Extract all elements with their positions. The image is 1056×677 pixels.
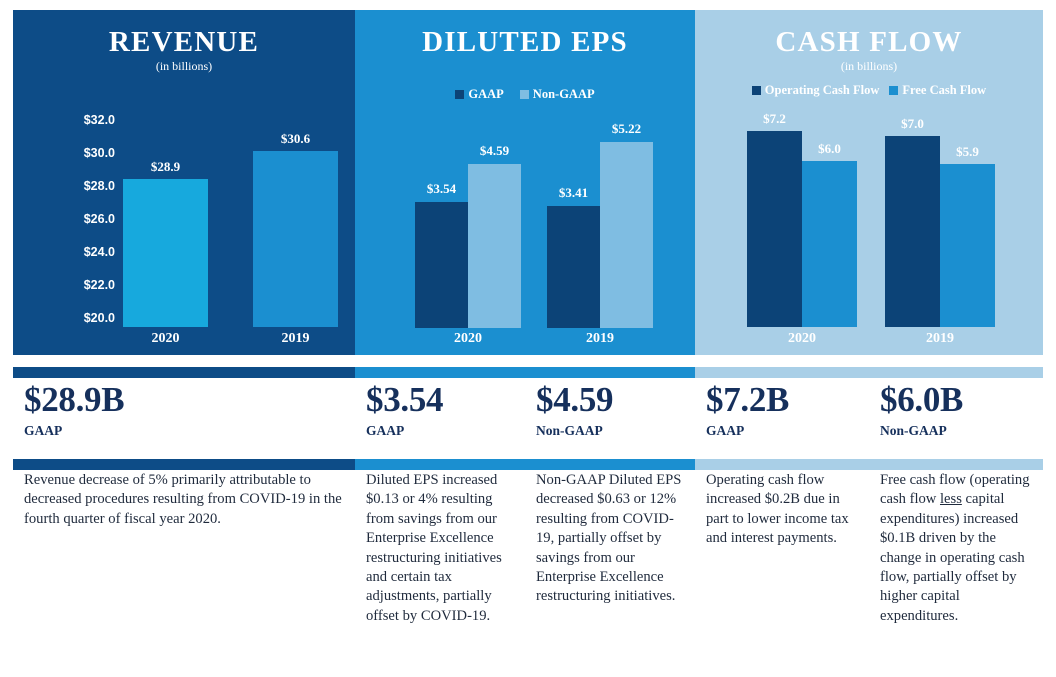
accent-segment-eps [355,459,695,470]
y-axis-tick: $26.0 [84,212,115,226]
revenue-bar-value-2019: $30.6 [253,131,338,147]
metric-cash-non-gaap: $6.0B Non-GAAP [869,382,1043,457]
cash-bars: $7.2 $6.0 $7.0 $5.9 [695,114,1043,327]
cash-chart-title: CASH FLOW [695,27,1043,57]
eps-bar-gaap-2020 [415,202,468,328]
legend-label-operating-cash-flow: Operating Cash Flow [765,83,880,98]
revenue-bar-value-2020: $28.9 [123,159,208,175]
chart-panel-diluted-eps: DILUTED EPS GAAP Non-GAAP $3.54 $4.5 [355,10,695,355]
revenue-plot-area: $32.0 $30.0 $28.0 $26.0 $24.0 $22.0 $20.… [13,115,355,350]
eps-bar-non-gaap-2020 [468,164,521,328]
cash-bar-operating-2020 [747,131,802,327]
metric-label: GAAP [366,423,525,439]
legend-item-non-gaap: Non-GAAP [520,87,595,102]
metric-eps-gaap: $3.54 GAAP [355,382,525,457]
x-axis-label-2019: 2019 [885,331,995,347]
note-cash-operating: Operating cash flow increased $0.2B due … [695,471,869,671]
legend-label-free-cash-flow: Free Cash Flow [902,83,986,98]
accent-segment-revenue [13,367,355,378]
eps-x-axis: 2020 2019 [355,331,695,349]
note-eps-gaap: Diluted EPS increased $0.13 or 4% result… [355,471,525,671]
x-axis-label-2020: 2020 [415,331,521,347]
x-axis-label-2019: 2019 [253,331,338,347]
chart-panel-revenue: REVENUE (in billions) $32.0 $30.0 $28.0 … [13,10,355,355]
eps-bar-value-gaap-2019: $3.41 [542,185,605,201]
accent-segment-cash [695,367,1043,378]
eps-bar-value-non-gaap-2019: $5.22 [595,121,658,137]
note-text: Non-GAAP Diluted EPS decreased $0.63 or … [536,471,683,607]
legend-swatch-icon [520,90,529,99]
cash-legend: Operating Cash Flow Free Cash Flow [695,83,1043,98]
revenue-bars: $28.9 $30.6 [123,115,338,327]
metric-value: $3.54 [366,382,525,419]
revenue-x-axis: 2020 2019 [13,331,355,349]
note-cash-free: Free cash flow (operating cash flow less… [869,471,1043,671]
note-text-free-cash-flow: Free cash flow (operating cash flow less… [880,471,1031,626]
eps-bar-non-gaap-2019 [600,142,653,328]
cash-x-axis: 2020 2019 [695,331,1043,349]
cash-bar-free-2019 [940,164,995,327]
chart-panel-cash-flow: CASH FLOW (in billions) Operating Cash F… [695,10,1043,355]
metrics-row: $28.9B GAAP $3.54 GAAP $4.59 Non-GAAP $7… [13,382,1043,457]
note-text: Diluted EPS increased $0.13 or 4% result… [366,471,513,626]
note-revenue: Revenue decrease of 5% primarily attribu… [13,471,355,671]
accent-bar-middle [13,459,1043,470]
metric-revenue-gaap: $28.9B GAAP [13,382,355,457]
y-axis-tick: $30.0 [84,146,115,160]
note-text-part: capital expenditures) increased $0.1B dr… [880,491,1025,623]
x-axis-label-2019: 2019 [547,331,653,347]
metric-value: $4.59 [536,382,695,419]
legend-item-free-cash-flow: Free Cash Flow [889,83,986,98]
eps-bar-value-gaap-2020: $3.54 [410,181,473,197]
metric-value: $7.2B [706,382,869,419]
metric-label: Non-GAAP [880,423,1043,439]
cash-bar-value-operating-2020: $7.2 [743,111,806,127]
revenue-chart-subtitle: (in billions) [13,59,355,74]
metric-label: Non-GAAP [536,423,695,439]
note-text: Operating cash flow increased $0.2B due … [706,471,857,549]
eps-bar-value-non-gaap-2020: $4.59 [463,143,526,159]
eps-bars: $3.54 $4.59 $3.41 $5.22 [355,118,695,328]
metric-value: $28.9B [24,382,355,419]
y-axis-tick: $20.0 [84,311,115,325]
legend-item-operating-cash-flow: Operating Cash Flow [752,83,880,98]
cash-plot-area: $7.2 $6.0 $7.0 $5.9 [695,114,1043,350]
metric-eps-non-gaap: $4.59 Non-GAAP [525,382,695,457]
cash-bar-value-operating-2019: $7.0 [881,116,944,132]
eps-bar-gaap-2019 [547,206,600,328]
accent-bar-top [13,367,1043,378]
revenue-chart-title: REVENUE [13,27,355,57]
x-axis-label-2020: 2020 [123,331,208,347]
note-eps-non-gaap: Non-GAAP Diluted EPS decreased $0.63 or … [525,471,695,671]
cash-bar-free-2020 [802,161,857,327]
metric-cash-gaap: $7.2B GAAP [695,382,869,457]
note-text: Revenue decrease of 5% primarily attribu… [24,471,343,529]
cash-chart-subtitle: (in billions) [695,59,1043,74]
x-axis-label-2020: 2020 [747,331,857,347]
accent-segment-revenue [13,459,355,470]
eps-legend: GAAP Non-GAAP [355,87,695,102]
legend-label-non-gaap: Non-GAAP [533,87,595,102]
y-axis-tick: $28.0 [84,179,115,193]
accent-segment-eps [355,367,695,378]
y-axis-tick: $32.0 [84,113,115,127]
y-axis-tick: $24.0 [84,245,115,259]
revenue-y-axis: $32.0 $30.0 $28.0 $26.0 $24.0 $22.0 $20.… [59,115,115,320]
legend-label-gaap: GAAP [468,87,503,102]
eps-plot-area: $3.54 $4.59 $3.41 $5.22 [355,118,695,350]
metric-label: GAAP [24,423,355,439]
cash-bar-operating-2019 [885,136,940,327]
infographic-page: REVENUE (in billions) $32.0 $30.0 $28.0 … [0,0,1056,677]
charts-band: REVENUE (in billions) $32.0 $30.0 $28.0 … [13,10,1043,355]
legend-swatch-icon [752,86,761,95]
cash-bar-value-free-2020: $6.0 [798,141,861,157]
note-text-underlined: less [940,491,962,507]
revenue-bar-2020 [123,179,208,327]
y-axis-tick: $22.0 [84,278,115,292]
eps-chart-title: DILUTED EPS [355,27,695,57]
accent-segment-cash [695,459,1043,470]
legend-swatch-icon [889,86,898,95]
legend-swatch-icon [455,90,464,99]
metric-value: $6.0B [880,382,1043,419]
metric-label: GAAP [706,423,869,439]
legend-item-gaap: GAAP [455,87,503,102]
revenue-bar-2019 [253,151,338,327]
cash-bar-value-free-2019: $5.9 [936,144,999,160]
notes-row: Revenue decrease of 5% primarily attribu… [13,471,1043,671]
